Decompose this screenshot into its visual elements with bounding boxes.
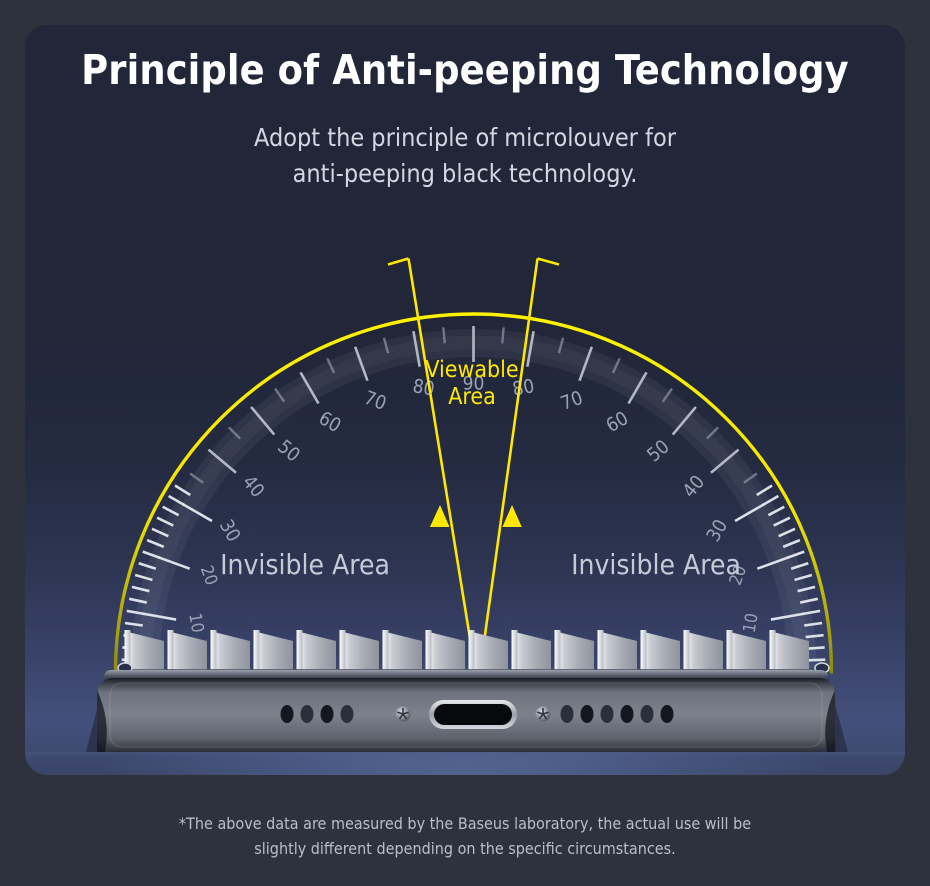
microlouver-fin (727, 630, 769, 673)
scale-label: 50 (643, 436, 674, 467)
scale-label: 30 (702, 516, 732, 546)
speaker-hole (581, 705, 594, 723)
scale-label: 70 (558, 387, 586, 415)
scale-label: 10 (740, 612, 763, 635)
screenshot-root: Principle of Anti-peeping Technology Ado… (0, 0, 930, 886)
microlouver-fin (469, 630, 511, 673)
scale-label: 30 (215, 516, 245, 546)
speaker-hole (281, 705, 294, 723)
scale-label: 20 (196, 563, 221, 588)
speaker-hole (621, 705, 634, 723)
scale-label: 60 (602, 407, 632, 437)
microlouver-fin (555, 630, 597, 673)
scale-label: 50 (273, 436, 304, 467)
microlouver-fin (383, 630, 425, 673)
speaker-hole (661, 705, 674, 723)
microlouver-array (125, 630, 812, 673)
usb-c-port (434, 704, 512, 725)
microlouver-fin (254, 630, 296, 673)
invisible-area-left-label: Invisible Area (220, 548, 390, 581)
footnote-line-2: slightly different depending on the spec… (60, 837, 870, 862)
scale-label: 40 (678, 471, 709, 502)
microlouver-fin (168, 630, 210, 673)
microlouver-fin (426, 630, 468, 673)
footnote-line-1: *The above data are measured by the Base… (60, 812, 870, 837)
phone-bottom-edge (86, 670, 848, 752)
microlouver-fin (512, 630, 554, 673)
microlouver-fin (297, 630, 339, 673)
microlouver-fin (641, 630, 683, 673)
surface-reflection (25, 752, 905, 755)
scale-label: 60 (315, 407, 345, 437)
microlouver-fin (211, 630, 253, 673)
scale-label: 40 (238, 471, 269, 502)
scale-label: 10 (184, 612, 207, 635)
footnote: *The above data are measured by the Base… (60, 812, 870, 862)
microlouver-fin (684, 630, 726, 673)
viewable-area-label-line1: Viewable (425, 357, 518, 383)
speaker-hole (601, 705, 614, 723)
speaker-hole (341, 705, 354, 723)
viewable-area-label-line2: Area (448, 384, 496, 410)
microlouver-fin (598, 630, 640, 673)
speaker-hole (641, 705, 654, 723)
speaker-hole (561, 705, 574, 723)
microlouver-fin (340, 630, 382, 673)
invisible-area-right-label: Invisible Area (571, 548, 741, 581)
scale-label: 70 (361, 387, 389, 415)
speaker-hole (321, 705, 334, 723)
anti-peep-diagram: 001010202030304040505060607070808090 Inv… (0, 0, 930, 886)
speaker-hole (301, 705, 314, 723)
